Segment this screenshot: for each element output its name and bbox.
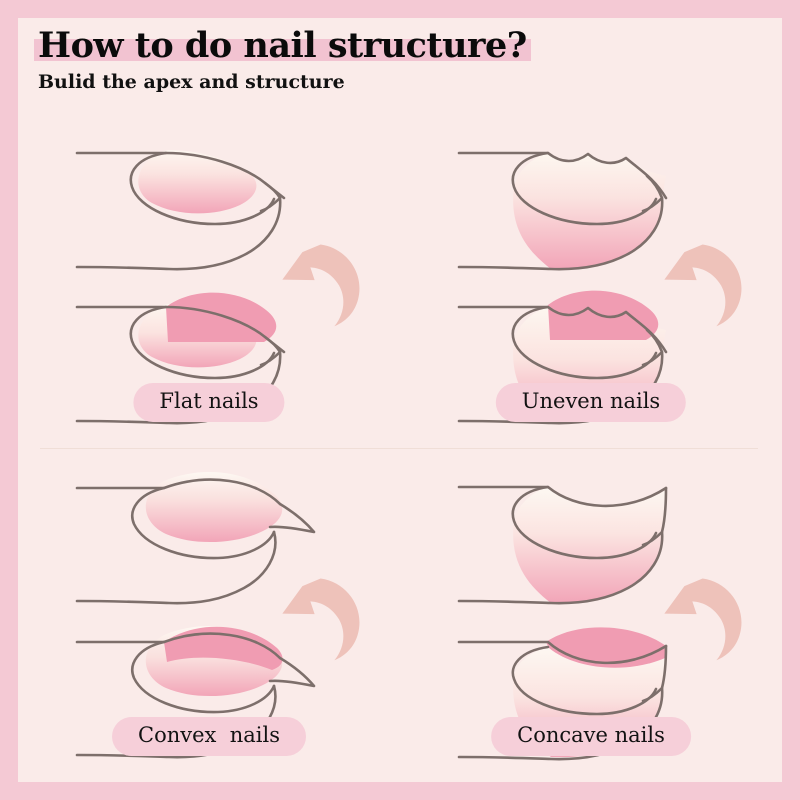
panel-label: Uneven nails — [496, 383, 686, 422]
curved-arrow-down-icon — [277, 574, 365, 663]
panel-uneven-nails[interactable]: Uneven nails — [400, 114, 782, 448]
page-title-wrap: How to do nail structure? — [34, 26, 531, 65]
curved-arrow-down-icon — [277, 240, 365, 329]
curved-arrow-down-icon — [659, 240, 747, 329]
panel-grid: Flat nails — [18, 114, 782, 782]
panel-flat-nails[interactable]: Flat nails — [18, 114, 400, 448]
panel-label: Concave nails — [491, 717, 691, 756]
poster-frame: How to do nail structure? Bulid the apex… — [18, 18, 782, 782]
page-title: How to do nail structure? — [38, 26, 527, 65]
panel-label: Flat nails — [133, 383, 284, 422]
panel-label: Convex nails — [112, 717, 306, 756]
panel-convex-nails[interactable]: Convex nails — [18, 448, 400, 782]
panel-concave-nails[interactable]: Concave nails — [400, 448, 782, 782]
page-subtitle: Bulid the apex and structure — [38, 71, 764, 93]
curved-arrow-down-icon — [659, 574, 747, 663]
header: How to do nail structure? Bulid the apex… — [34, 26, 764, 93]
